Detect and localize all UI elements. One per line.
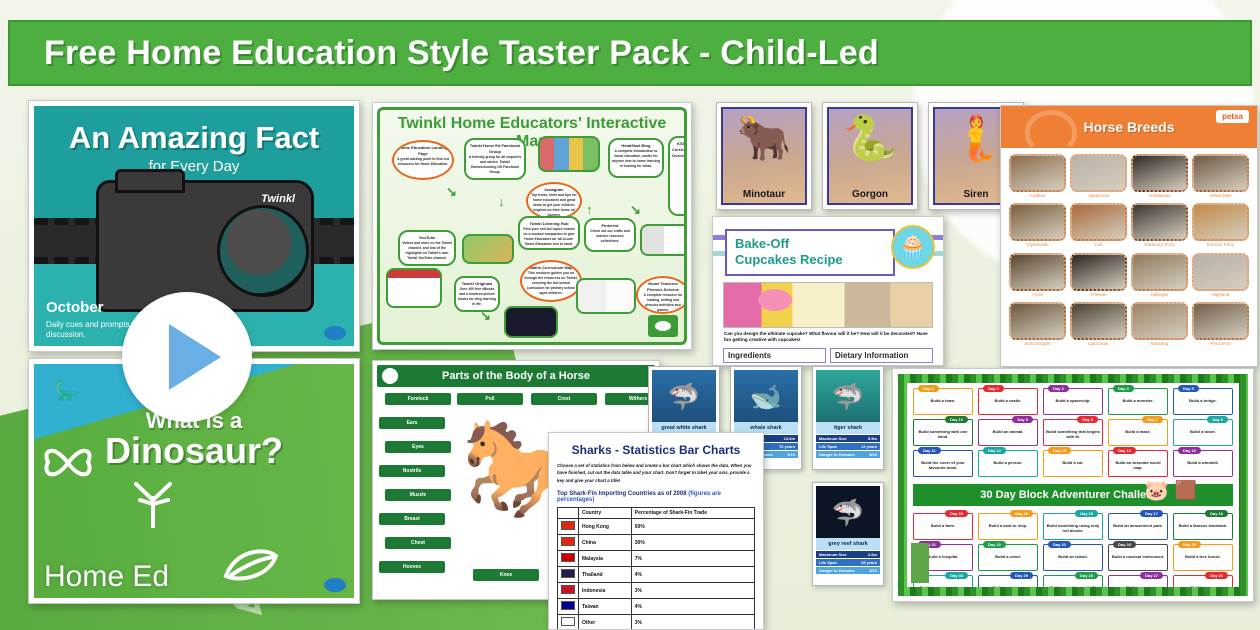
block-challenge-day-card[interactable]: Day 29Build a rainbow. — [978, 575, 1038, 596]
interactive-map-content: Twinkl Home Educators' Interactive Map H… — [377, 107, 687, 345]
table-row: Indonesia3% — [558, 583, 755, 599]
shark-photo: 🦈 — [816, 370, 880, 422]
horse-parts-header: Parts of the Body of a Horse — [377, 365, 655, 387]
block-challenge-day-card[interactable]: Day 23Build an island. — [1043, 544, 1103, 571]
horse-breed-label: Appaloosa — [1070, 193, 1127, 198]
horse-breed-photo — [1131, 302, 1188, 340]
block-challenge-day-card[interactable]: Day 15Build a windmill. — [1173, 450, 1233, 477]
day-badge: Day 19 — [1010, 510, 1033, 517]
block-challenge-day-card[interactable]: Day 7Build a maze. — [1108, 419, 1168, 446]
twinkl-logo-icon — [324, 326, 346, 340]
map-node-body: A complete resource for reading, writing… — [644, 293, 683, 312]
day-badge: Day 22 — [983, 541, 1006, 548]
horse-breed-cell[interactable]: Akhal-Teke — [1192, 154, 1249, 198]
block-challenge-day-card[interactable]: Day 26Build a train. — [1173, 575, 1233, 596]
horse-breed-label: Arabian — [1009, 193, 1066, 198]
column-header-dietary: Dietary Information — [830, 348, 933, 363]
horse-breeds-header: Horse Breeds petsa — [1001, 106, 1257, 148]
day-task-text: Build your dream home. — [916, 585, 970, 590]
block-challenge-day-card[interactable]: Day 27Build a tree. — [1108, 575, 1168, 596]
shark-stat-row: Danger to Humans4/10 — [816, 567, 880, 574]
day-badge: Day 3 — [1048, 385, 1069, 392]
horse-breed-cell[interactable]: Appaloosa — [1070, 154, 1127, 198]
camera-illustration: Twinkl — [96, 180, 314, 312]
day-badge: Day 1 — [918, 385, 939, 392]
day-badge: Day 9 — [1012, 416, 1033, 423]
day-badge: Day 2 — [983, 385, 1004, 392]
horse-part-label: Chest — [385, 537, 451, 549]
day-badge: Day 26 — [1205, 572, 1228, 579]
day-task-text: Build an accurate world map. — [1111, 460, 1165, 470]
shark-stat-row: Life Span12 years — [816, 443, 880, 450]
resource-card-horse-breeds[interactable]: Horse Breeds petsa ArabianAppaloosaAndal… — [1000, 105, 1258, 367]
horse-breed-cell[interactable]: Fjord — [1009, 253, 1066, 297]
map-thumbnail-craft[interactable] — [462, 234, 514, 264]
country-flag-cell — [558, 599, 579, 615]
day-badge: Day 14 — [1113, 447, 1136, 454]
horse-part-label: Hooves — [379, 561, 445, 573]
horse-breed-label: Highland — [1192, 292, 1249, 297]
percentage-cell: 30% — [631, 535, 754, 551]
horse-part-label: Poll — [457, 393, 523, 405]
map-node-7[interactable]: Pinterest Check out our crafts and teach… — [584, 218, 636, 252]
table-row: Taiwan4% — [558, 599, 755, 615]
percentage-cell: 3% — [631, 615, 754, 630]
amazing-fact-subtitle: for Every Day — [44, 158, 344, 175]
horse-breeds-grid: ArabianAppaloosaAndalusianAkhal-TekeClyd… — [1001, 148, 1257, 353]
creeper-icon — [911, 543, 929, 583]
map-arrow-icon: ↘ — [446, 184, 457, 200]
horse-breed-photo — [1192, 154, 1249, 192]
day-badge: Day 17 — [1140, 510, 1163, 517]
country-name-cell: Thailand — [579, 567, 632, 583]
map-node-1[interactable]: Twinkl Home Ed Facebook Group A friendly… — [464, 138, 526, 180]
horse-breed-photo — [1192, 203, 1249, 241]
column-header-ingredients: Ingredients — [723, 348, 826, 363]
day-badge: Day 28 — [1075, 572, 1098, 579]
block-challenge-day-card[interactable]: Day 16Build a famous landmark. — [1173, 513, 1233, 540]
amazing-fact-title: An Amazing Fact — [44, 120, 344, 156]
stat-value: 2.6m — [868, 552, 877, 557]
country-flag-cell — [558, 535, 579, 551]
shark-fin-import-table: Country Percentage of Shark-Fin Trade Ho… — [557, 507, 755, 630]
block-challenge-day-card[interactable]: Day 14Build an accurate world map. — [1108, 450, 1168, 477]
map-node-heading: Home Education Landing Page — [396, 145, 450, 157]
column-header-percentage: Percentage of Shark-Fin Trade — [631, 508, 754, 519]
block-challenge-day-card[interactable]: Day 1Build a town. — [913, 388, 973, 415]
map-node-4[interactable]: YouTube Videos and more on the Twinkl ch… — [398, 230, 456, 266]
block-challenge-day-card[interactable]: Day 20Build a farm. — [913, 513, 973, 540]
creature-card-art: 🐂 Minotaur — [721, 107, 807, 205]
map-node-5[interactable]: Twinkl Originals Over 400 free eBooks an… — [454, 276, 500, 312]
shark-name: tiger shark — [816, 422, 880, 434]
horse-breeds-title: Horse Breeds — [1083, 119, 1174, 135]
play-triangle-icon — [169, 324, 221, 390]
day-badge: Day 8 — [1077, 416, 1098, 423]
map-arrow-icon: ↘ — [480, 308, 491, 324]
bake-off-caption: Can you design the ultimate cupcake? Wha… — [724, 331, 932, 345]
twinkl-logo-icon — [324, 578, 346, 592]
country-name-cell: Indonesia — [579, 583, 632, 599]
table-row: China30% — [558, 535, 755, 551]
map-sidebar-curriculum[interactable]: KS1 Curriculum Overviews — [668, 136, 687, 216]
horse-breed-photo — [1192, 302, 1249, 340]
camera-brand-label: Twinkl — [261, 193, 295, 205]
horse-parts-title: Parts of the Body of a Horse — [442, 370, 590, 382]
block-challenge-day-card[interactable]: Day 8Build something that begins with M. — [1043, 419, 1103, 446]
horse-breed-label: Percheron — [1192, 341, 1249, 346]
day-task-text: Build a robot. — [981, 554, 1035, 559]
block-challenge-day-card[interactable]: Day 19Build a boat or ship. — [978, 513, 1038, 540]
shark-photo: 🐋 — [734, 370, 798, 422]
stat-label: Maximum Size — [819, 552, 847, 557]
block-challenge-day-card[interactable]: Day 6Build a tower. — [1173, 419, 1233, 446]
block-challenge-day-card[interactable]: Day 4Build a monster. — [1108, 388, 1168, 415]
sharks-worksheet-intro: Choose a set of statistics from below an… — [557, 462, 755, 484]
gorgon-icon: 🐍 — [843, 117, 898, 161]
day-badge: Day 4 — [1113, 385, 1134, 392]
day-task-text: Build a train. — [1176, 585, 1230, 590]
horse-breed-label: Andalusian — [1131, 193, 1188, 198]
bake-off-title-line1: Bake-Off — [735, 236, 885, 252]
stat-label: Danger to Humans — [819, 452, 855, 457]
block-challenge-day-card[interactable]: Day 5Build a bridge. — [1173, 388, 1233, 415]
horse-breed-cell[interactable]: Lipizzaner — [1070, 302, 1127, 346]
block-challenge-day-card[interactable]: Day 28Build something with 30 blocks. — [1043, 575, 1103, 596]
day-badge: Day 20 — [945, 510, 968, 517]
day-task-text: Build a person. — [981, 460, 1035, 465]
leaf-icon — [222, 546, 280, 582]
horse-breed-photo — [1131, 253, 1188, 291]
day-badge: Day 11 — [918, 447, 941, 454]
horse-breed-label: Lipizzaner — [1070, 341, 1127, 346]
block-challenge-day-card[interactable]: Day 9Build an animal. — [978, 419, 1038, 446]
map-node-body: A complete introduction to home educatio… — [612, 149, 660, 168]
shark-name: grey reef shark — [816, 538, 880, 550]
stat-value: 8/10 — [869, 452, 877, 457]
stat-label: Life Span — [819, 444, 837, 449]
day-task-text: Build an amusement park. — [1111, 523, 1165, 528]
creature-card-minotaur[interactable]: 🐂 Minotaur — [716, 102, 812, 210]
horse-part-label: Ears — [379, 417, 445, 429]
resource-card-block-challenge[interactable]: Day 1Build a town.Day 2Build a castle.Da… — [892, 368, 1254, 602]
horse-breed-photo — [1009, 203, 1066, 241]
horse-breed-label: Irish Draught — [1009, 341, 1066, 346]
day-badge: Day 10 — [945, 416, 968, 423]
day-badge: Day 30 — [945, 572, 968, 579]
horse-breed-cell[interactable]: Andalusian — [1131, 154, 1188, 198]
block-challenge-day-card[interactable]: Day 11Build the cover of your favourite … — [913, 450, 973, 477]
country-name-cell: Other — [579, 615, 632, 630]
flag-icon — [561, 617, 575, 626]
table-header-row: Country Percentage of Shark-Fin Trade — [558, 508, 755, 519]
day-badge: Day 5 — [1178, 385, 1199, 392]
block-challenge-day-card[interactable]: Day 10Build something with one hand. — [913, 419, 973, 446]
day-task-text: Build something using only red blocks. — [1046, 523, 1100, 533]
horse-part-label: Muzzle — [385, 489, 451, 501]
day-task-text: Build a tree. — [1111, 585, 1165, 590]
horse-breed-cell[interactable]: Percheron — [1192, 302, 1249, 346]
day-task-text: Build a musical instrument. — [1111, 554, 1165, 559]
horse-breed-photo — [1131, 154, 1188, 192]
country-name-cell: Malaysia — [579, 551, 632, 567]
grass-block-icon: 🟫 — [1175, 480, 1197, 501]
block-challenge-day-card[interactable]: Day 12Build a person. — [978, 450, 1038, 477]
horse-breed-photo — [1009, 253, 1066, 291]
shark-icon: 🐋 — [750, 382, 782, 413]
day-task-text: Build a tower. — [1176, 429, 1230, 434]
creature-card-label: Minotaur — [723, 189, 805, 200]
horse-part-label: Breast — [379, 513, 445, 525]
day-task-text: Build a spaceship. — [1046, 398, 1100, 403]
horse-breed-label: Cob — [1070, 242, 1127, 247]
day-badge: Day 18 — [1075, 510, 1098, 517]
day-badge: Day 15 — [1178, 447, 1201, 454]
horse-breed-cell[interactable]: Haflinger — [1131, 253, 1188, 297]
horse-breed-cell[interactable]: Dartmoor Pony — [1131, 203, 1188, 247]
horse-breed-photo — [1131, 203, 1188, 241]
map-node-heading: Twinkl Home Ed Facebook Group — [468, 143, 522, 155]
shark-card-grey-reef-shark[interactable]: 🦈 grey reef shark Maximum Size2.6m Life … — [812, 482, 884, 586]
decorated-cupcake-graphic — [758, 289, 792, 311]
horse-breed-cell[interactable]: Exmoor Pony — [1192, 203, 1249, 247]
play-video-button[interactable] — [122, 292, 252, 422]
block-challenge-day-card[interactable]: Day 17Build an amusement park. — [1108, 513, 1168, 540]
map-node-0[interactable]: Home Education Landing Page A great star… — [392, 140, 454, 180]
shark-stat-row: Danger to Humans8/10 — [816, 451, 880, 458]
day-badge: Day 27 — [1140, 572, 1163, 579]
sharks-table-heading: Top Shark-Fin Importing Countries as of … — [557, 491, 755, 503]
map-node-9[interactable]: Home Teachers Phonics Scheme A complete … — [636, 276, 687, 314]
horse-part-label: Knee — [473, 569, 539, 581]
day-task-text: Build the cover of your favourite book. — [916, 460, 970, 470]
country-flag-cell — [558, 583, 579, 599]
country-flag-cell — [558, 615, 579, 630]
percentage-cell: 4% — [631, 599, 754, 615]
stat-label: Life Span — [819, 560, 837, 565]
day-task-text: Build a car. — [1046, 460, 1100, 465]
page-banner: Free Home Education Style Taster Pack - … — [8, 20, 1252, 86]
block-challenge-day-card[interactable]: Day 18Build something using only red blo… — [1043, 513, 1103, 540]
horse-breed-cell[interactable]: Highland — [1192, 253, 1249, 297]
horse-breed-label: Clydesdale — [1009, 242, 1066, 247]
shark-card-tiger-shark[interactable]: 🦈 tiger shark Maximum Size5.5m Life Span… — [812, 366, 884, 470]
shark-stat-row: Maximum Size5.5m — [816, 435, 880, 442]
horse-breed-photo — [1192, 253, 1249, 291]
map-thumbnail-youtube[interactable] — [386, 268, 442, 308]
stat-label: Danger to Humans — [819, 568, 855, 573]
creature-card-gorgon[interactable]: 🐍 Gorgon — [822, 102, 918, 210]
horse-breed-photo — [1009, 302, 1066, 340]
horse-part-label: Forelock — [385, 393, 451, 405]
horse-breed-cell[interactable]: Clydesdale — [1009, 203, 1066, 247]
block-challenge-banner-text: 30 Day Block Adventurer Challenge — [980, 489, 1165, 501]
map-arrow-icon: ↓ — [498, 194, 505, 209]
flag-icon — [561, 553, 575, 562]
horse-breed-cell[interactable]: Arabian — [1009, 154, 1066, 198]
horse-breed-photo — [1070, 203, 1127, 241]
shark-icon: 🦈 — [832, 498, 864, 529]
block-challenge-day-card[interactable]: Day 3Build a spaceship. — [1043, 388, 1103, 415]
resource-card-bake-off[interactable]: Bake-Off Cupcakes Recipe 🧁 Can you desig… — [712, 216, 944, 366]
bake-off-title-line2: Cupcakes Recipe — [735, 252, 885, 268]
map-node-body: A great starting point to find out resou… — [397, 157, 449, 166]
map-thumbnail-resources[interactable] — [538, 136, 600, 172]
shark-stat-row: Maximum Size2.6m — [816, 551, 880, 558]
day-badge: Day 6 — [1207, 416, 1228, 423]
day-task-text: Build something with one hand. — [916, 429, 970, 439]
day-task-text: Build a farm. — [916, 523, 970, 528]
map-node-body: This resource guides you on through the … — [524, 271, 577, 295]
minotaur-icon: 🐂 — [737, 117, 792, 161]
bake-off-title-box: Bake-Off Cupcakes Recipe — [725, 229, 895, 276]
table-row: Thailand4% — [558, 567, 755, 583]
butterfly-icon — [40, 442, 96, 484]
day-badge: Day 13 — [1048, 447, 1071, 454]
country-name-cell: China — [579, 535, 632, 551]
percentage-cell: 3% — [631, 583, 754, 599]
stat-value: 4/10 — [869, 568, 877, 573]
flag-icon — [561, 585, 575, 594]
map-thumbnail-video[interactable] — [504, 306, 558, 338]
horse-breed-cell[interactable]: Irish Draught — [1009, 302, 1066, 346]
horse-part-label: Nostrils — [379, 465, 445, 477]
day-task-text: Build an island. — [1046, 554, 1100, 559]
country-flag-cell — [558, 551, 579, 567]
map-arrow-icon: ↑ — [586, 202, 593, 217]
horse-breed-label: Mustang — [1131, 341, 1188, 346]
column-header-country: Country — [579, 508, 632, 519]
map-node-6[interactable]: Twinkl Learning Hub Find your self-led t… — [518, 216, 580, 250]
table-row: Malaysia7% — [558, 551, 755, 567]
block-challenge-day-card[interactable]: Day 2Build a castle. — [978, 388, 1038, 415]
horse-breed-cell[interactable]: Mustang — [1131, 302, 1188, 346]
horse-part-label: Crest — [531, 393, 597, 405]
country-flag-cell — [558, 567, 579, 583]
screenshot-stage: ✎ Free Home Education Style Taster Pack … — [0, 0, 1260, 630]
day-badge: Day 25 — [1178, 541, 1201, 548]
block-challenge-day-card[interactable]: Day 13Build a car. — [1043, 450, 1103, 477]
page-title: Free Home Education Style Taster Pack - … — [44, 34, 879, 73]
shark-stat-row: Life Span25 years — [816, 559, 880, 566]
shark-icon: 🦈 — [668, 382, 700, 413]
map-node-body: Over 400 free eBooks and a hundred pictu… — [458, 287, 496, 306]
cupcake-icon: 🧁 — [891, 225, 935, 269]
shark-photo: 🦈 — [652, 370, 716, 422]
horse-breed-label: Friesian — [1070, 292, 1127, 297]
stat-label: Maximum Size — [819, 436, 847, 441]
map-node-2[interactable]: Instagram Top tricks, hints and tips for… — [526, 182, 582, 220]
day-task-text: Build a boat or ship. — [981, 523, 1035, 528]
map-node-heading: Home Teachers Phonics Scheme — [640, 281, 686, 293]
horse-breed-label: Exmoor Pony — [1192, 242, 1249, 247]
publisher-logo: petsa — [1216, 110, 1249, 123]
map-node-body: Videos and more on the Twinkl channel, a… — [402, 241, 452, 260]
stat-value: 13.6m — [784, 436, 795, 441]
shark-icon: 🦈 — [832, 382, 864, 413]
stat-value: 5.5m — [868, 436, 877, 441]
column-header-flag — [558, 508, 579, 519]
seedling-icon — [130, 476, 176, 528]
block-challenge-grid-bottom: Day 20Build a farm.Day 19Build a boat or… — [907, 508, 1239, 596]
horse-breed-photo — [1070, 154, 1127, 192]
day-task-text: Build a maze. — [1111, 429, 1165, 434]
flag-icon — [561, 569, 575, 578]
horse-breed-photo — [1070, 302, 1127, 340]
map-node-body: Check out our crafts and teacher resourc… — [590, 229, 630, 243]
country-name-cell: Taiwan — [579, 599, 632, 615]
resource-card-sharks-statistics[interactable]: Sharks - Statistics Bar Charts Choose a … — [548, 432, 764, 630]
block-challenge-content: Day 1Build a town.Day 2Build a castle.Da… — [898, 374, 1248, 596]
resource-card-interactive-map[interactable]: Twinkl Home Educators' Interactive Map H… — [372, 102, 692, 350]
horse-breed-label: Fjord — [1009, 292, 1066, 297]
country-flag-cell — [558, 519, 579, 535]
percentage-cell: 50% — [631, 519, 754, 535]
sharks-worksheet-title: Sharks - Statistics Bar Charts — [557, 443, 755, 457]
horse-breed-cell[interactable]: Friesian — [1070, 253, 1127, 297]
map-thumbnail-phonics[interactable] — [576, 278, 636, 314]
day-badge: Day 7 — [1142, 416, 1163, 423]
map-node-8[interactable]: Maths Curriculum Map This resource guide… — [520, 260, 582, 302]
block-challenge-day-card[interactable]: Day 24Build a musical instrument. — [1108, 544, 1168, 571]
map-node-body: Find your self-led topics hosted on a cu… — [523, 227, 574, 246]
horse-part-label: Eyes — [385, 441, 451, 453]
map-sidebar-heading: KS1 Curriculum Overviews — [672, 141, 687, 159]
map-thumbnail-english[interactable] — [640, 224, 687, 256]
day-badge: Day 23 — [1048, 541, 1071, 548]
day-task-text: Build a windmill. — [1176, 460, 1230, 465]
percentage-cell: 7% — [631, 551, 754, 567]
horse-breed-cell[interactable]: Cob — [1070, 203, 1127, 247]
horse-breed-label: Dartmoor Pony — [1131, 242, 1188, 247]
horse-breed-photo — [1009, 154, 1066, 192]
horse-breed-label: Haflinger — [1131, 292, 1188, 297]
flag-icon — [561, 521, 575, 530]
map-node-body: A friendly group for all enquiries and a… — [469, 155, 521, 174]
horse-breed-photo — [1070, 253, 1127, 291]
siren-icon: 🧜 — [949, 117, 1004, 161]
day-task-text: Build a rainbow. — [981, 585, 1035, 590]
day-badge: Day 12 — [983, 447, 1006, 454]
day-badge: Day 29 — [1010, 572, 1033, 579]
day-task-text: Build a bridge. — [1176, 398, 1230, 403]
twinkl-badge-icon — [648, 315, 678, 337]
day-task-text: Build something that begins with M. — [1046, 429, 1100, 439]
map-arrow-icon: ↘ — [630, 202, 641, 218]
table-row: Hong Kong50% — [558, 519, 755, 535]
day-task-text: Build a monster. — [1111, 398, 1165, 403]
block-challenge-day-card[interactable]: Day 22Build a robot. — [978, 544, 1038, 571]
horse-breed-label: Akhal-Teke — [1192, 193, 1249, 198]
country-name-cell: Hong Kong — [579, 519, 632, 535]
stat-value: 25 years — [861, 560, 877, 565]
bake-off-photo — [723, 282, 933, 328]
flag-icon — [561, 537, 575, 546]
bake-off-table-headers: Ingredients Dietary Information — [723, 348, 933, 363]
day-task-text: Build something with 30 blocks. — [1046, 585, 1100, 595]
table-row: Other3% — [558, 615, 755, 630]
block-challenge-day-card[interactable]: Day 25Build a tree house. — [1173, 544, 1233, 571]
creature-card-art: 🐍 Gorgon — [827, 107, 913, 205]
stat-value: 12 years — [861, 444, 877, 449]
map-node-3[interactable]: HeadStart Blog A complete introduction t… — [608, 138, 664, 178]
day-task-text: Build a castle. — [981, 398, 1035, 403]
stat-value: 70 years — [779, 444, 795, 449]
day-badge: Day 24 — [1113, 541, 1136, 548]
amazing-fact-month: October — [46, 299, 104, 316]
stat-value: 1/10 — [787, 452, 795, 457]
day-task-text: Build a famous landmark. — [1176, 523, 1230, 528]
